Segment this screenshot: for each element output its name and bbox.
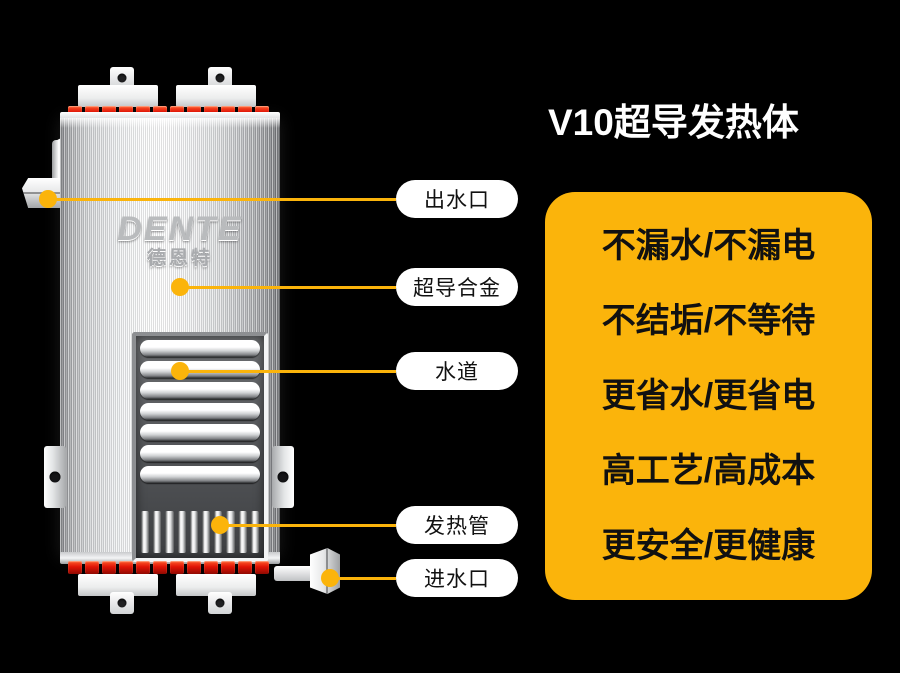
inlet-pipe-horizontal bbox=[274, 566, 316, 581]
page-title: V10超导发热体 bbox=[548, 104, 878, 143]
heating-tube bbox=[178, 511, 186, 553]
feature-item: 高工艺/高成本 bbox=[602, 454, 815, 488]
screw-hole bbox=[118, 74, 127, 83]
screw-hole bbox=[216, 74, 225, 83]
callout-dot-superconducting-alloy bbox=[171, 278, 189, 296]
mounting-tab-bottom-right bbox=[208, 592, 232, 614]
terminal-strip-bottom bbox=[62, 561, 269, 574]
screw-hole bbox=[50, 472, 61, 483]
terminal bbox=[68, 561, 82, 574]
product-infographic: DENTE 德恩特 bbox=[0, 0, 900, 673]
feature-panel: 不漏水/不漏电 不结垢/不等待 更省水/更省电 高工艺/高成本 更安全/更健康 bbox=[545, 192, 872, 600]
coil-turn bbox=[140, 445, 260, 462]
terminal bbox=[238, 561, 252, 574]
product-illustration: DENTE 德恩特 bbox=[0, 0, 420, 673]
water-channel-coil bbox=[140, 340, 260, 483]
terminal bbox=[204, 561, 218, 574]
callout-dot-water-outlet bbox=[39, 190, 57, 208]
terminal-cover-top-left bbox=[78, 85, 158, 107]
terminal bbox=[136, 561, 150, 574]
heating-tube bbox=[239, 511, 247, 553]
screw-hole bbox=[118, 599, 127, 608]
heating-tube-bundle bbox=[141, 511, 259, 553]
coil-window bbox=[132, 332, 268, 562]
brand-logo: DENTE 德恩特 bbox=[95, 212, 265, 268]
mounting-ear-left bbox=[44, 446, 66, 508]
heating-tube bbox=[165, 511, 173, 553]
feature-item: 不漏水/不漏电 bbox=[602, 229, 815, 263]
callout-label-superconducting-alloy[interactable]: 超导合金 bbox=[396, 268, 518, 306]
callout-label-water-outlet[interactable]: 出水口 bbox=[396, 180, 518, 218]
coil-turn bbox=[140, 382, 260, 399]
terminal bbox=[85, 561, 99, 574]
coil-turn bbox=[140, 403, 260, 420]
callout-label-water-channel[interactable]: 水道 bbox=[396, 352, 518, 390]
mounting-ear-right bbox=[272, 446, 294, 508]
callout-dot-water-inlet bbox=[321, 569, 339, 587]
terminal bbox=[170, 561, 184, 574]
heating-tube bbox=[251, 511, 259, 553]
heating-tube bbox=[202, 511, 210, 553]
coil-turn bbox=[140, 424, 260, 441]
mounting-tab-bottom-left bbox=[110, 592, 134, 614]
heating-tube bbox=[190, 511, 198, 553]
feature-item: 更安全/更健康 bbox=[602, 529, 815, 563]
screw-hole bbox=[216, 599, 225, 608]
callout-label-water-inlet[interactable]: 进水口 bbox=[396, 559, 518, 597]
callout-line-heating-tube bbox=[220, 524, 396, 527]
terminal bbox=[119, 561, 133, 574]
callout-dot-heating-tube bbox=[211, 516, 229, 534]
terminal bbox=[255, 561, 269, 574]
terminal-cover-top-right bbox=[176, 85, 256, 107]
callout-line-water-outlet bbox=[48, 198, 396, 201]
terminal bbox=[221, 561, 235, 574]
callout-line-superconducting-alloy bbox=[180, 286, 396, 289]
callout-line-water-channel bbox=[180, 370, 396, 373]
callout-line-water-inlet bbox=[330, 577, 396, 580]
heating-tube bbox=[153, 511, 161, 553]
terminal bbox=[102, 561, 116, 574]
callout-dot-water-channel bbox=[171, 362, 189, 380]
brand-name-cn: 德恩特 bbox=[95, 249, 265, 268]
brand-mark: DENTE bbox=[95, 212, 265, 246]
coil-turn bbox=[140, 466, 260, 483]
callout-label-heating-tube[interactable]: 发热管 bbox=[396, 506, 518, 544]
terminal bbox=[187, 561, 201, 574]
heating-tube bbox=[226, 511, 234, 553]
terminal bbox=[153, 561, 167, 574]
feature-item: 更省水/更省电 bbox=[602, 379, 815, 413]
heating-tube bbox=[141, 511, 149, 553]
feature-item: 不结垢/不等待 bbox=[602, 304, 815, 338]
screw-hole bbox=[278, 472, 289, 483]
coil-turn bbox=[140, 340, 260, 357]
